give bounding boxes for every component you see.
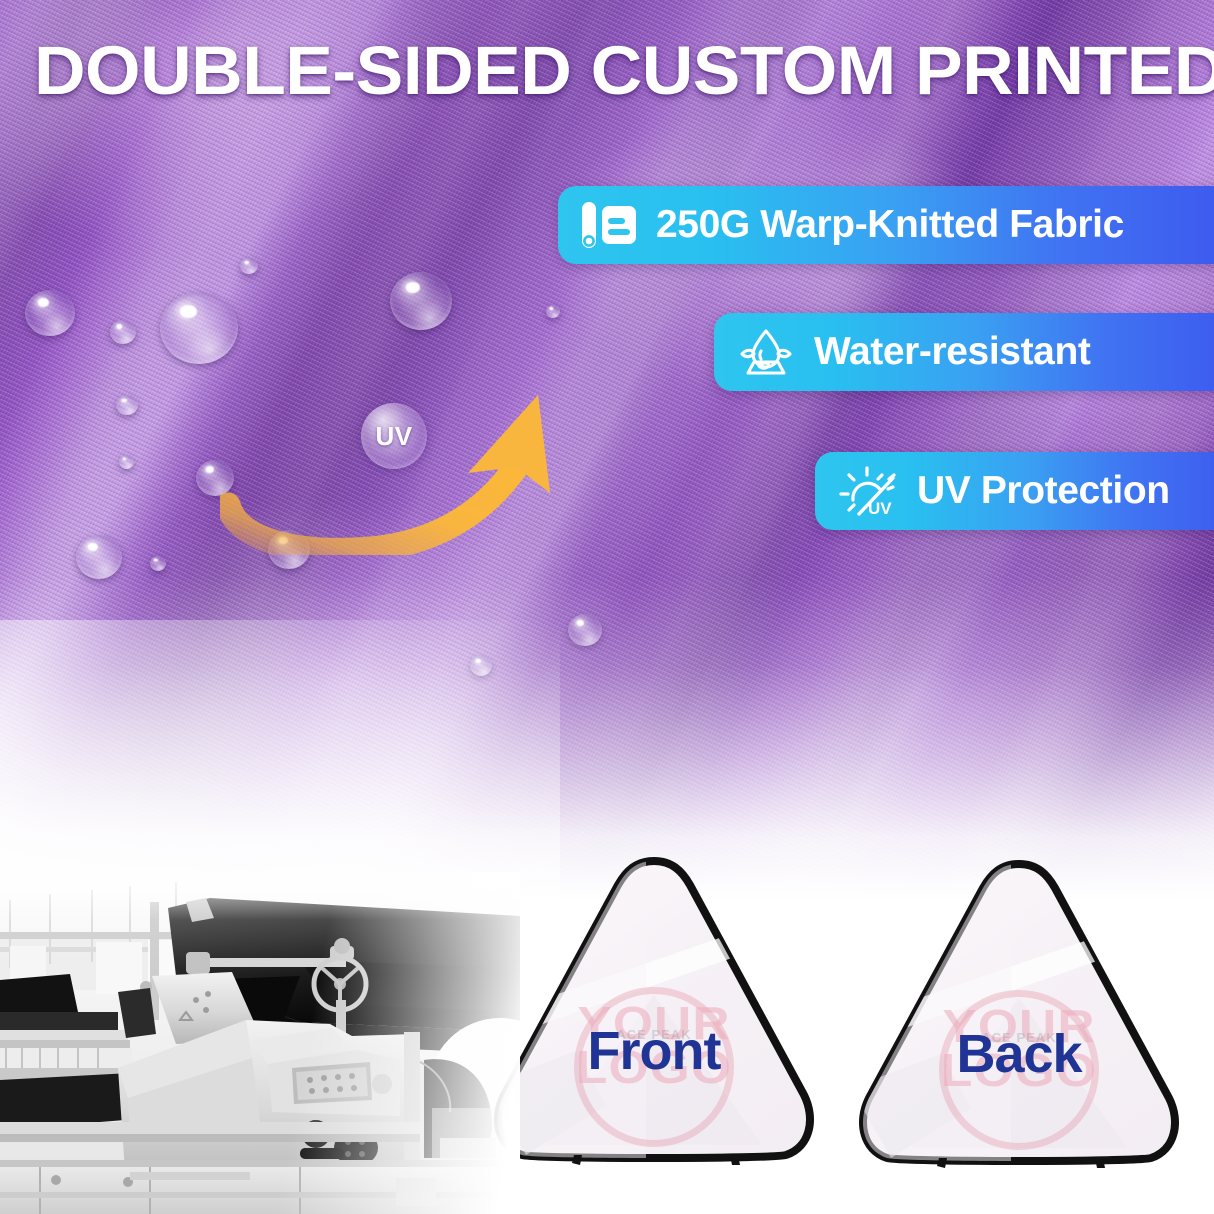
- svg-text:UV: UV: [868, 499, 892, 518]
- feature-badge-label: Water-resistant: [814, 330, 1090, 374]
- uv-badge: UV: [361, 403, 427, 469]
- product-banner-front[interactable]: YOUR LOGO ACE PEAK Front: [486, 855, 822, 1173]
- product-banner-front-label: Front: [486, 1020, 822, 1082]
- feature-badge-label: 250G Warp-Knitted Fabric: [656, 203, 1124, 247]
- feature-badge-label: UV Protection: [917, 469, 1170, 513]
- feature-badge-uv-protection[interactable]: UV UV Protection: [815, 452, 1214, 530]
- water-droplet-repel-icon: [736, 326, 796, 378]
- fabric-background-image: [0, 0, 1214, 900]
- fabric-roll-icon: [580, 200, 638, 250]
- uv-badge-label: UV: [375, 421, 412, 452]
- sun-uv-icon: UV: [837, 464, 899, 518]
- feature-badge-fabric-weight[interactable]: 250G Warp-Knitted Fabric: [558, 186, 1214, 264]
- product-marketing-banner: DOUBLE-SIDED CUSTOM PRINTED BANNER UV: [0, 0, 1214, 1214]
- factory-photo-fade: [0, 872, 520, 1214]
- page-title: DOUBLE-SIDED CUSTOM PRINTED BANNER: [34, 36, 1214, 106]
- product-banner-back-label: Back: [851, 1023, 1187, 1085]
- product-banner-back[interactable]: YOUR LOGO ACE PEAK Back: [851, 858, 1187, 1176]
- feature-badge-water-resistant[interactable]: Water-resistant: [714, 313, 1214, 391]
- fabric-left-fade-overlay: [0, 620, 560, 900]
- factory-machine-photo: [0, 872, 520, 1214]
